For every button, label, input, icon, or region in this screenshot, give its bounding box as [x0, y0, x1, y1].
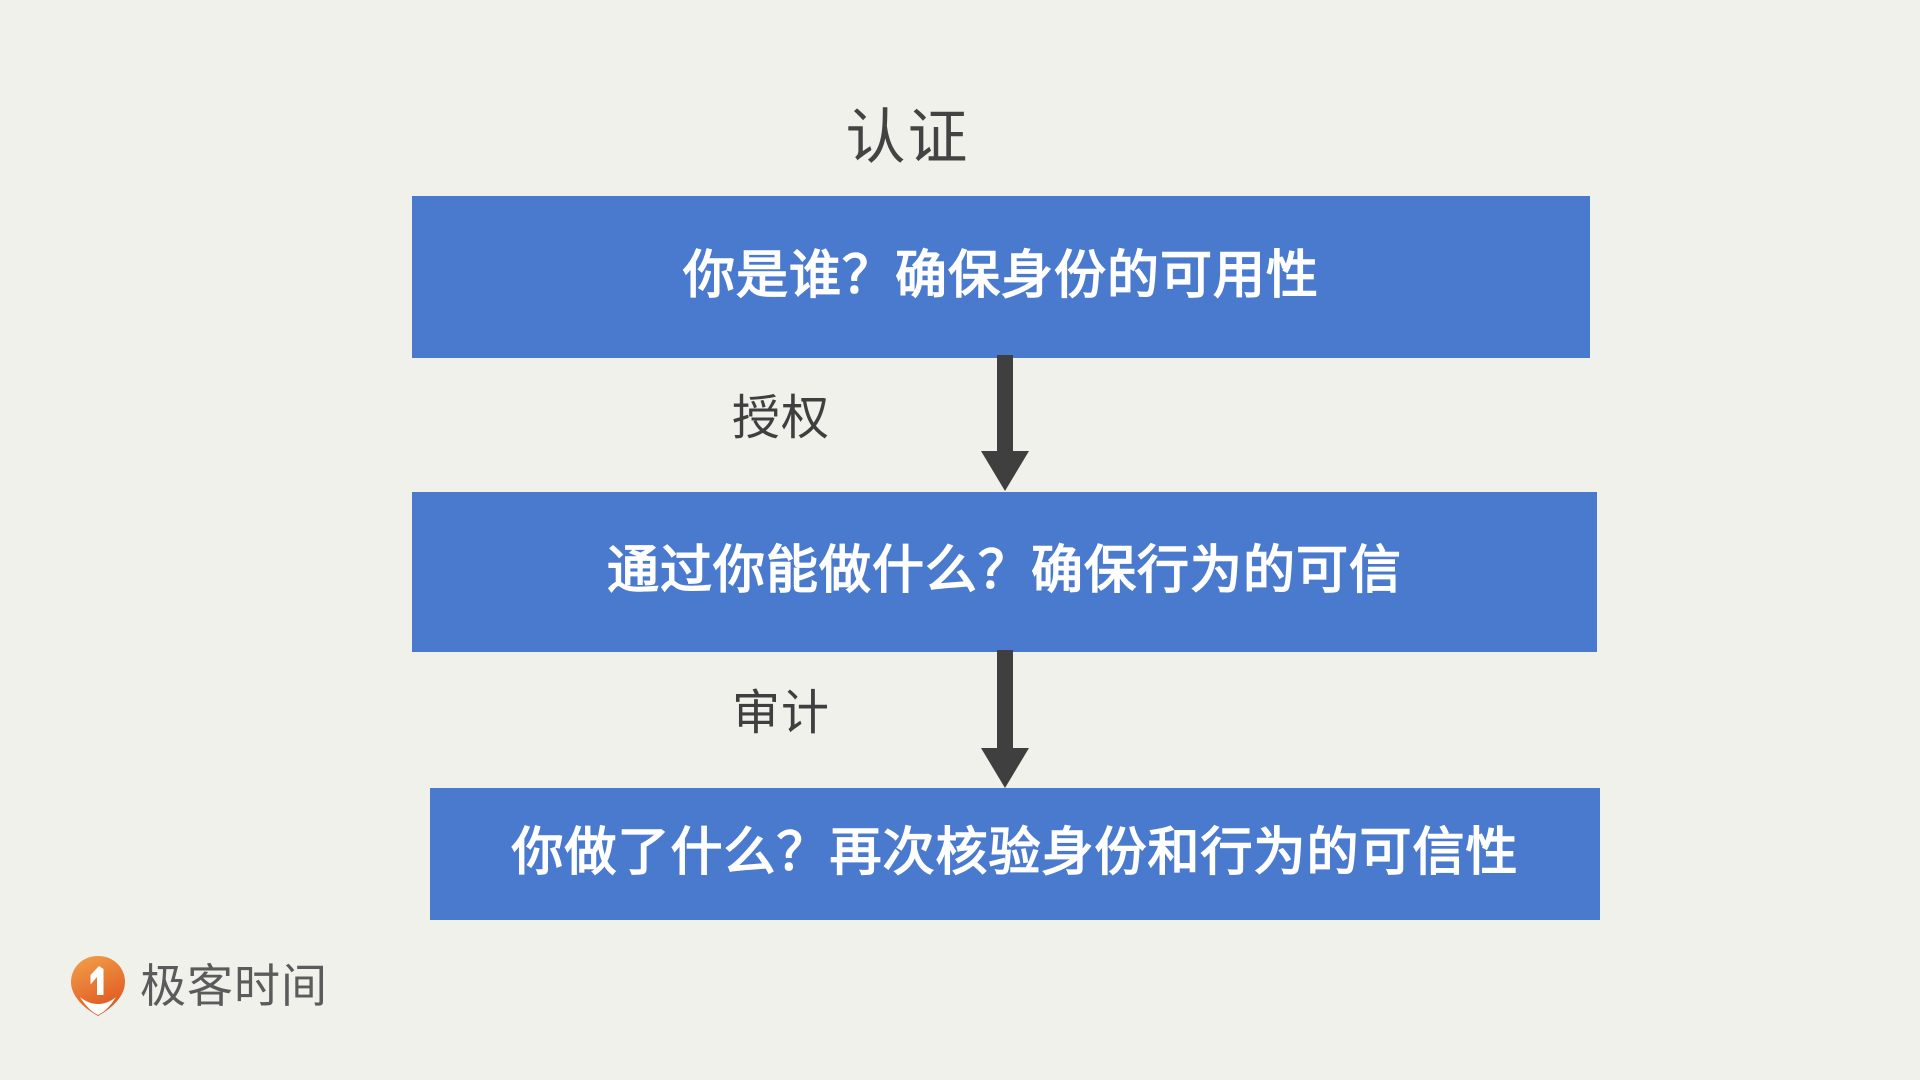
diagram-canvas: 认证 你是谁？确保身份的可用性 授权 通过你能做什么？确保行为的可信 审计 你做…	[0, 0, 1920, 1080]
connector-arrow-2	[945, 650, 1065, 790]
brand-watermark: 极客时间	[70, 955, 328, 1017]
process-box-audit: 你做了什么？再次核验身份和行为的可信性	[430, 788, 1600, 920]
process-box-authentication: 你是谁？确保身份的可用性	[412, 196, 1590, 358]
diagram-title: 认证	[0, 108, 1815, 168]
edge-label-audit: 审计	[732, 690, 830, 738]
process-box-label: 你是谁？确保身份的可用性	[683, 248, 1319, 305]
brand-name: 极客时间	[140, 963, 328, 1009]
process-box-label: 你做了什么？再次核验身份和行为的可信性	[511, 825, 1518, 882]
down-arrow-icon	[945, 650, 1065, 790]
process-box-authorization: 通过你能做什么？确保行为的可信	[412, 492, 1597, 652]
connector-arrow-1	[945, 355, 1065, 493]
edge-label-authorization: 授权	[732, 395, 830, 443]
geekbang-pin-icon	[70, 955, 126, 1017]
process-box-label: 通过你能做什么？确保行为的可信	[607, 543, 1402, 600]
down-arrow-icon	[945, 355, 1065, 493]
